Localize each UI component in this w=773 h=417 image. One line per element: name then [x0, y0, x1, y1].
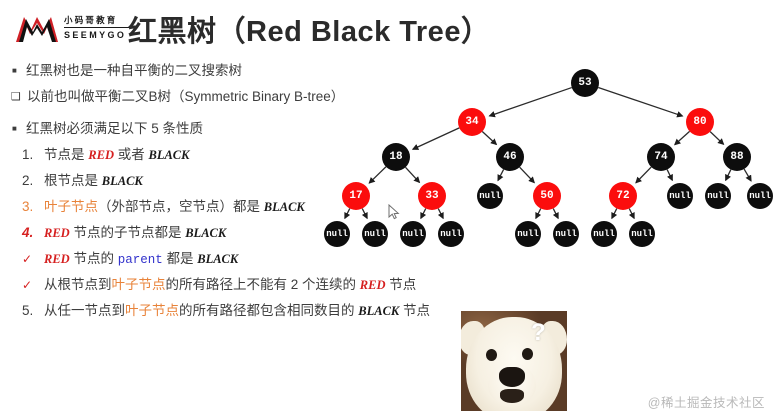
rule-4-text: RED 节点的子节点都是 BLACK — [44, 225, 226, 240]
tree-edge — [553, 209, 558, 219]
dog-eye-right — [522, 348, 533, 360]
tree-node-17: 17 — [342, 182, 370, 210]
tree-edge — [726, 170, 731, 181]
rule-item-7: 5.从任一节点到叶子节点的所有路径都包含相同数目的 BLACK 节点 — [0, 298, 440, 324]
tree-edge — [536, 209, 541, 219]
tree-edge — [675, 131, 690, 144]
rule-4-number: 4. — [22, 220, 44, 246]
tree-node-46: 46 — [496, 143, 524, 171]
tree-node-74: 74 — [647, 143, 675, 171]
bullet-item-3-label: 红黑树必须满足以下 5 条性质 — [26, 121, 203, 136]
keyword-black: BLACK — [264, 200, 305, 214]
bullet-item-1-label: 红黑树也是一种自平衡的二叉搜索树 — [26, 63, 242, 78]
keyword-parent: parent — [118, 253, 163, 267]
question-mark-overlay: ? — [531, 319, 546, 347]
keyword-leaf-node: 叶子节点 — [125, 303, 179, 318]
tree-edge — [369, 167, 386, 183]
dog-meme-image: ? — [461, 311, 567, 411]
tree-edge — [629, 209, 634, 219]
tree-edge — [667, 170, 672, 181]
rule-1-number: 1. — [22, 142, 44, 168]
tree-node-34: 34 — [458, 108, 486, 136]
tree-node-33: 33 — [418, 182, 446, 210]
keyword-leaf-node: 叶子节点 — [44, 199, 98, 214]
tree-edge — [362, 209, 367, 219]
keyword-black: BLACK — [185, 226, 226, 240]
tree-node-null: null — [477, 183, 503, 209]
tree-node-null: null — [591, 221, 617, 247]
rule-6-check-icon: ✓ — [22, 272, 44, 298]
rule-2-number: 2. — [22, 168, 44, 194]
logo-wordmark: 小码哥教育 SEEMYGO — [64, 15, 134, 41]
tree-edge — [612, 209, 617, 219]
tree-node-53: 53 — [571, 69, 599, 97]
tree-edge — [710, 132, 723, 145]
tree-node-72: 72 — [609, 182, 637, 210]
tree-node-null: null — [747, 183, 773, 209]
keyword-black: BLACK — [358, 304, 399, 318]
tree-node-50: 50 — [533, 182, 561, 210]
tree-edges-svg — [320, 58, 773, 283]
tree-edge — [744, 169, 751, 181]
tree-edge — [413, 128, 459, 149]
dog-eye-left — [486, 349, 497, 361]
tree-node-null: null — [705, 183, 731, 209]
tree-edge — [489, 88, 571, 116]
slide-header: 小码哥教育 SEEMYGO 红黑树（Red Black Tree） — [0, 0, 773, 56]
rule-5-check-icon: ✓ — [22, 246, 44, 272]
keyword-red: RED — [44, 226, 70, 240]
logo-mark-icon — [14, 14, 60, 44]
tree-node-80: 80 — [686, 108, 714, 136]
tree-node-18: 18 — [382, 143, 410, 171]
tree-edge — [598, 87, 682, 116]
keyword-black: BLACK — [102, 174, 143, 188]
bullet-item-2-label: 以前也叫做平衡二叉B树（Symmetric Binary B-tree） — [27, 89, 344, 104]
tree-node-null: null — [629, 221, 655, 247]
tree-edge — [405, 167, 419, 182]
tree-edge — [520, 167, 535, 182]
mouse-cursor-icon — [388, 204, 400, 220]
keyword-black: BLACK — [148, 148, 189, 162]
tree-node-null: null — [515, 221, 541, 247]
rule-5-text: RED 节点的 parent 都是 BLACK — [44, 251, 238, 266]
red-black-tree-diagram: 533480184674881733null5072nullnullnullnu… — [320, 58, 773, 283]
rule-3-text: 叶子节点（外部节点，空节点）都是 BLACK — [44, 199, 305, 214]
slide-canvas: 小码哥教育 SEEMYGO 红黑树（Red Black Tree） 红黑树也是一… — [0, 0, 773, 417]
tree-node-null: null — [553, 221, 579, 247]
tree-edge — [421, 209, 426, 219]
rule-2-text: 根节点是 BLACK — [44, 173, 143, 188]
brand-logo: 小码哥教育 SEEMYGO — [14, 12, 132, 46]
tree-node-null: null — [438, 221, 464, 247]
tree-edge — [636, 167, 651, 183]
watermark-label: @稀土掘金技术社区 — [648, 392, 765, 411]
logo-english-text: SEEMYGO — [64, 27, 134, 41]
rule-7-text: 从任一节点到叶子节点的所有路径都包含相同数目的 BLACK 节点 — [44, 303, 430, 318]
tree-edge — [482, 131, 496, 144]
rule-7-number: 5. — [22, 298, 44, 324]
rule-3-number: 3. — [22, 194, 44, 220]
tree-node-null: null — [362, 221, 388, 247]
keyword-leaf-node: 叶子节点 — [112, 277, 166, 292]
page-title: 红黑树（Red Black Tree） — [128, 8, 490, 50]
tree-edge — [438, 209, 443, 219]
tree-node-88: 88 — [723, 143, 751, 171]
rule-1-text: 节点是 RED 或者 BLACK — [44, 147, 189, 162]
keyword-black: BLACK — [197, 252, 238, 266]
logo-chinese-text: 小码哥教育 — [64, 15, 134, 26]
dog-nose — [499, 367, 525, 387]
tree-edge — [345, 209, 350, 219]
dog-mouth — [500, 389, 524, 403]
tree-node-null: null — [667, 183, 693, 209]
tree-node-null: null — [324, 221, 350, 247]
keyword-red: RED — [44, 252, 70, 266]
tree-node-null: null — [400, 221, 426, 247]
keyword-red: RED — [88, 148, 114, 162]
tree-edge — [498, 169, 504, 180]
